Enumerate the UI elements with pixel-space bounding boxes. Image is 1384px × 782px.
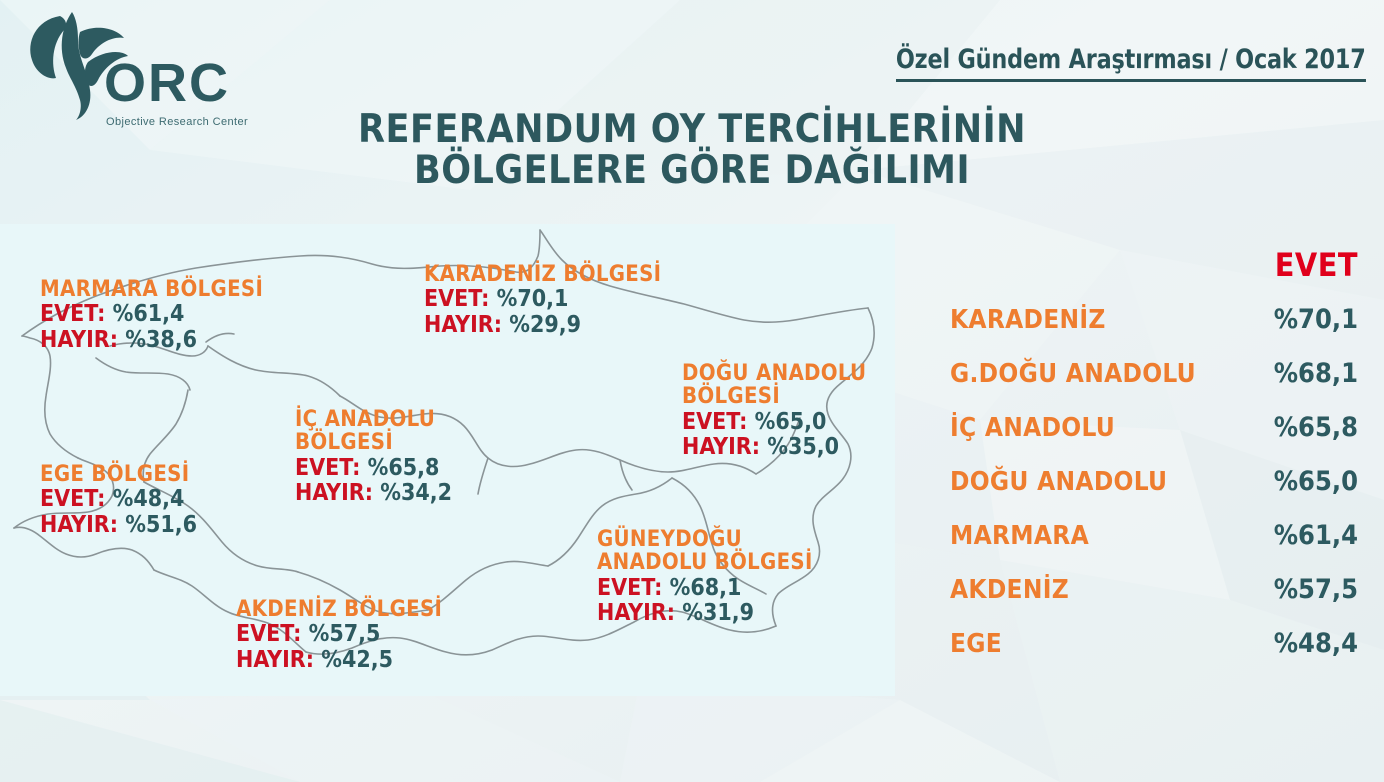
rank-region-name: EGE: [950, 629, 1002, 659]
rank-region-value: %70,1: [1274, 304, 1370, 335]
hayir-label: HAYIR:: [40, 327, 118, 353]
page-title-line2: BÖLGELERE GÖRE DAĞILIMI: [0, 151, 1384, 192]
rank-region-value: %48,4: [1274, 628, 1370, 659]
table-row: DOĞU ANADOLU %65,0: [950, 466, 1370, 497]
evet-value: %65,8: [368, 455, 440, 481]
region-callout-ic-anadolu: İÇ ANADOLU BÖLGESİ EVET: %65,8 HAYIR: %3…: [295, 408, 452, 505]
ranking-header-evet: EVET: [950, 246, 1370, 284]
rank-region-value: %65,0: [1274, 466, 1370, 497]
table-row: KARADENİZ %70,1: [950, 304, 1370, 335]
region-callout-akdeniz: AKDENİZ BÖLGESİ EVET: %57,5 HAYIR: %42,5: [236, 598, 442, 672]
evet-value: %57,5: [309, 621, 381, 647]
region-evet-row: EVET: %65,0: [682, 410, 866, 434]
region-callout-dogu-anadolu: DOĞU ANADOLU BÖLGESİ EVET: %65,0 HAYIR: …: [682, 362, 866, 459]
evet-value: %61,4: [113, 301, 185, 327]
region-hayir-row: HAYIR: %42,5: [236, 648, 442, 672]
rank-region-value: %68,1: [1274, 358, 1370, 389]
region-name: İÇ ANADOLU: [295, 408, 452, 431]
region-hayir-row: HAYIR: %31,9: [597, 601, 813, 625]
region-evet-row: EVET: %57,5: [236, 622, 442, 646]
page-title: REFERANDUM OY TERCİHLERİNİN BÖLGELERE GÖ…: [0, 110, 1384, 191]
hayir-value: %31,9: [682, 600, 754, 626]
region-name: GÜNEYDOĞU: [597, 528, 813, 551]
rank-region-name: MARMARA: [950, 521, 1089, 551]
region-callout-marmara: MARMARA BÖLGESİ EVET: %61,4 HAYIR: %38,6: [40, 278, 263, 352]
region-name-line2: ANADOLU BÖLGESİ: [597, 551, 813, 574]
evet-label: EVET:: [236, 621, 301, 647]
hayir-value: %42,5: [321, 647, 393, 673]
study-subtitle: Özel Gündem Araştırması / Ocak 2017: [896, 44, 1366, 82]
table-row: MARMARA %61,4: [950, 520, 1370, 551]
hayir-value: %35,0: [767, 434, 839, 460]
region-evet-row: EVET: %61,4: [40, 302, 263, 326]
region-name-line2: BÖLGESİ: [295, 431, 452, 454]
region-evet-row: EVET: %48,4: [40, 487, 197, 511]
region-hayir-row: HAYIR: %38,6: [40, 328, 263, 352]
rank-region-name: AKDENİZ: [950, 575, 1069, 605]
evet-label: EVET:: [40, 486, 105, 512]
page-title-line1: REFERANDUM OY TERCİHLERİNİN: [358, 107, 1026, 152]
table-row: G.DOĞU ANADOLU %68,1: [950, 358, 1370, 389]
evet-value: %70,1: [497, 286, 569, 312]
region-hayir-row: HAYIR: %35,0: [682, 435, 866, 459]
region-callout-guneydogu-anadolu: GÜNEYDOĞU ANADOLU BÖLGESİ EVET: %68,1 HA…: [597, 528, 813, 625]
evet-value: %68,1: [670, 575, 742, 601]
region-name-line2: BÖLGESİ: [682, 385, 866, 408]
hayir-value: %29,9: [509, 312, 581, 338]
table-row: AKDENİZ %57,5: [950, 574, 1370, 605]
region-evet-row: EVET: %65,8: [295, 456, 452, 480]
evet-value: %48,4: [113, 486, 185, 512]
hayir-label: HAYIR:: [295, 480, 373, 506]
rank-region-name: DOĞU ANADOLU: [950, 467, 1167, 497]
hayir-value: %51,6: [125, 512, 197, 538]
hayir-label: HAYIR:: [682, 434, 760, 460]
hayir-label: HAYIR:: [40, 512, 118, 538]
region-callout-ege: EGE BÖLGESİ EVET: %48,4 HAYIR: %51,6: [40, 463, 197, 537]
region-evet-row: EVET: %70,1: [424, 287, 661, 311]
rank-region-name: İÇ ANADOLU: [950, 413, 1115, 443]
table-row: İÇ ANADOLU %65,8: [950, 412, 1370, 443]
rank-region-value: %57,5: [1274, 574, 1370, 605]
region-name: EGE BÖLGESİ: [40, 463, 197, 486]
evet-ranking-table: EVET KARADENİZ %70,1 G.DOĞU ANADOLU %68,…: [950, 246, 1370, 682]
rank-region-value: %65,8: [1274, 412, 1370, 443]
region-hayir-row: HAYIR: %29,9: [424, 313, 661, 337]
rank-region-name: G.DOĞU ANADOLU: [950, 359, 1196, 389]
rank-region-value: %61,4: [1274, 520, 1370, 551]
region-hayir-row: HAYIR: %34,2: [295, 481, 452, 505]
region-name: AKDENİZ BÖLGESİ: [236, 598, 442, 621]
region-name: KARADENİZ BÖLGESİ: [424, 263, 661, 286]
evet-label: EVET:: [295, 455, 360, 481]
hayir-label: HAYIR:: [236, 647, 314, 673]
region-name: MARMARA BÖLGESİ: [40, 278, 263, 301]
evet-value: %65,0: [755, 409, 827, 435]
table-row: EGE %48,4: [950, 628, 1370, 659]
hayir-label: HAYIR:: [597, 600, 675, 626]
region-callout-karadeniz: KARADENİZ BÖLGESİ EVET: %70,1 HAYIR: %29…: [424, 263, 661, 337]
region-name: DOĞU ANADOLU: [682, 362, 866, 385]
evet-label: EVET:: [682, 409, 747, 435]
region-evet-row: EVET: %68,1: [597, 576, 813, 600]
rank-region-name: KARADENİZ: [950, 305, 1106, 335]
evet-label: EVET:: [424, 286, 489, 312]
region-hayir-row: HAYIR: %51,6: [40, 513, 197, 537]
hayir-value: %34,2: [380, 480, 452, 506]
hayir-value: %38,6: [125, 327, 197, 353]
logo-wordmark: ORC: [104, 56, 230, 110]
evet-label: EVET:: [40, 301, 105, 327]
hayir-label: HAYIR:: [424, 312, 502, 338]
evet-label: EVET:: [597, 575, 662, 601]
